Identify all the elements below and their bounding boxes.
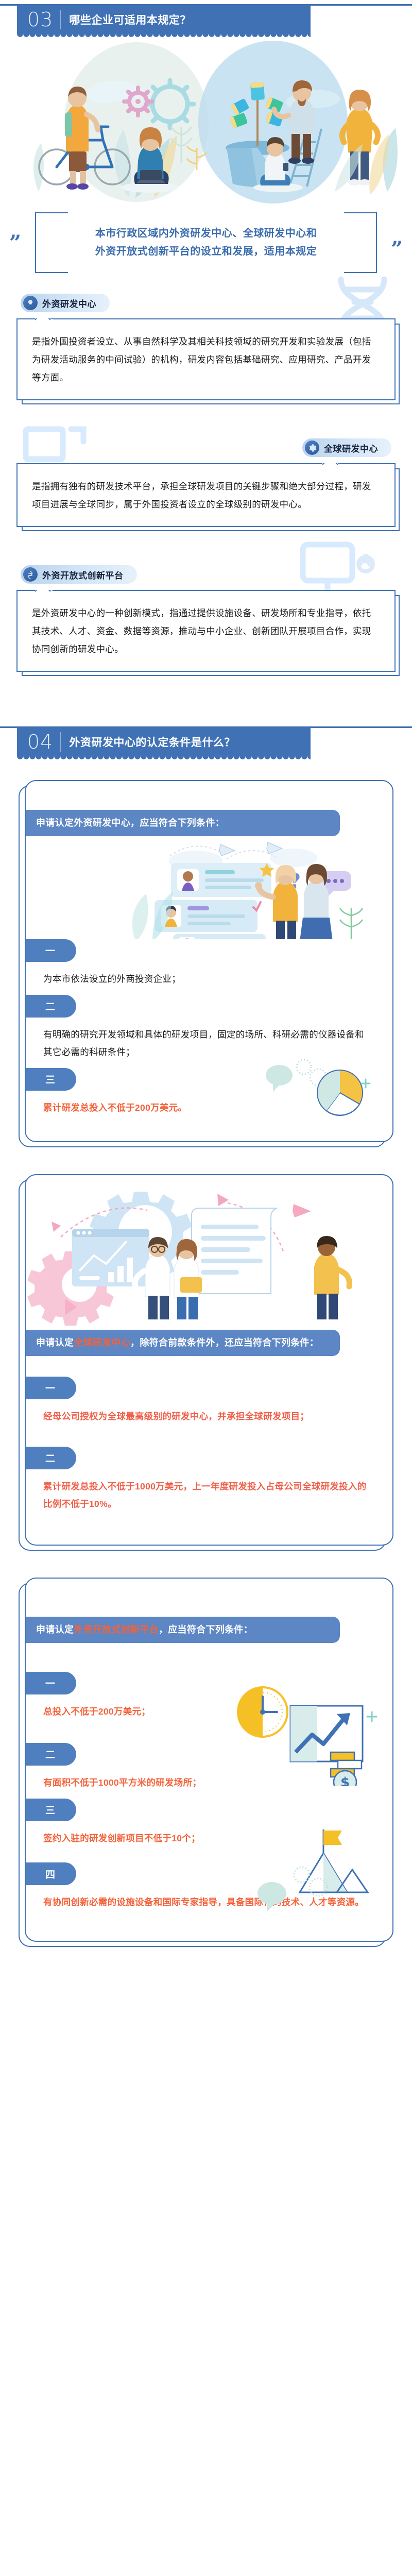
definition-card-wrap: 是指拥有独有的研发技术平台，承担全球研发项目的关键步骤和绝大部分过程，研发项目进… — [16, 457, 396, 527]
definition-card: 是指外国投资者设立、从事自然科学及其相关科技领域的研究开发和实验发展（包括为研发… — [16, 318, 396, 400]
definition-pill-row: 全球研发中心 — [0, 438, 412, 457]
condition-card: 申请认定全球研发中心，除符合前款条件外，还应当符合下列条件： 一 经母公司授权为… — [25, 1174, 393, 1546]
definition-card-notch — [322, 463, 338, 471]
definition-card-notch — [35, 590, 50, 598]
condition-item: 三 累计研发总投入不低于200万美元。 — [26, 1068, 392, 1124]
quote-block: ” ” 本市行政区域内外资研发中心、全球研发中心和 外资开放式创新平台的设立和发… — [0, 212, 412, 273]
section-number: 03 — [27, 10, 61, 29]
definition-card: 是外资研发中心的一种创新模式，指通过提供设施设备、研发场所和专业指导，依托其技术… — [16, 590, 396, 672]
condition-item: 二 有面积不低于1000平方米的研发场所； — [26, 1743, 392, 1799]
definition-card-wrap: 是指外国投资者设立、从事自然科学及其相关科技领域的研究开发和实验发展（包括为研发… — [16, 312, 396, 400]
condition-item-number: 一 — [25, 1672, 76, 1694]
condition-card-foreign-rd-center: 申请认定外资研发中心，应当符合下列条件： — [19, 780, 393, 1142]
condition-item: 二 累计研发总投入不低于1000万美元，上一年度研发投入占母公司全球研发投入的比… — [26, 1447, 392, 1520]
section-title: 哪些企业可适用本规定？ — [69, 12, 191, 27]
condition-item-number: 二 — [25, 995, 76, 1018]
condition-header-suffix: ，除符合前款条件外，还应当符合下列条件： — [130, 1337, 319, 1348]
condition-header-prefix: 申请认定 — [36, 1624, 74, 1635]
condition-item-number: 四 — [25, 1862, 76, 1885]
quote-open-mark: ” — [9, 233, 21, 253]
definition-block-global-rd-center: 全球研发中心 是指拥有独有的研发技术平台，承担全球研发项目的关键步骤和绝大部分过… — [0, 438, 412, 527]
condition-item-text: 累计研发总投入不低于1000万美元，上一年度研发投入占母公司全球研发投入的比例不… — [26, 1469, 392, 1518]
definition-pill-label: 外资开放式创新平台 — [42, 568, 124, 581]
condition-card-illustration — [26, 1175, 392, 1330]
banner-box: 03 哪些企业可适用本规定？ — [17, 5, 311, 34]
condition-header-highlight: 外资开放式创新平台 — [74, 1624, 159, 1635]
network-icon — [23, 567, 38, 582]
condition-item-number: 一 — [25, 939, 76, 962]
definition-body: 是指拥有独有的研发技术平台，承担全球研发项目的关键步骤和绝大部分过程，研发项目进… — [32, 478, 380, 514]
condition-card: 申请认定外资开放式创新平台，应当符合下列条件： 一 — [25, 1578, 393, 1942]
condition-item: 四 有协同创新必需的设施设备和国际专家指导，具备国际化的技术、人才等资源。 — [26, 1862, 392, 1918]
condition-item: 三 签约入驻的研发创新项目不低于10个； — [26, 1799, 392, 1854]
definition-card-notch — [35, 318, 50, 327]
definition-pill: 外资开放式创新平台 — [21, 565, 137, 584]
section-number: 04 — [27, 732, 61, 752]
definition-pill: 全球研发中心 — [302, 438, 391, 457]
condition-card-global-rd-center: 申请认定全球研发中心，除符合前款条件外，还应当符合下列条件： 一 经母公司授权为… — [19, 1174, 393, 1546]
condition-item-number: 二 — [25, 1447, 76, 1469]
banner-scallop-edge — [17, 756, 311, 761]
condition-item-number: 三 — [25, 1068, 76, 1091]
condition-item: 一 — [26, 1672, 392, 1727]
chat-bubble-dots-icon — [248, 1861, 346, 1918]
section-banner-04: 04 外资研发中心的认定条件是什么？ — [0, 722, 412, 759]
condition-item-text: 经母公司授权为全球最高级别的研发中心，并承担全球研发项目； — [26, 1399, 392, 1430]
definition-pill-row: 外资研发中心 — [0, 294, 412, 312]
condition-card-illustration: ? — [26, 831, 392, 939]
definition-pill-label: 外资研发中心 — [42, 297, 96, 310]
condition-header-suffix: ，应当符合下列条件： — [159, 1624, 253, 1635]
definition-card: 是指拥有独有的研发技术平台，承担全球研发项目的关键步骤和绝大部分过程，研发项目进… — [16, 463, 396, 527]
definition-body: 是外资研发中心的一种创新模式，指通过提供设施设备、研发场所和专业指导，依托其技术… — [32, 604, 380, 658]
definition-pill-row: 外资开放式创新平台 — [0, 565, 412, 584]
gear-icon — [305, 440, 319, 455]
definition-pill-label: 全球研发中心 — [324, 442, 378, 454]
definition-pill: 外资研发中心 — [21, 294, 110, 312]
condition-header-highlight: 全球研发中心 — [74, 1337, 130, 1348]
profile-cards-illustration: ? — [26, 831, 376, 939]
condition-item-text: 为本市依法设立的外商投资企业； — [26, 962, 392, 993]
condition-item-number: 三 — [25, 1799, 76, 1821]
quote-line-1: 本市行政区域内外资研发中心、全球研发中心和 — [54, 225, 358, 243]
quote-frame-mask-bottom — [68, 271, 344, 274]
definition-block-open-innovation-platform: 外资开放式创新平台 是外资研发中心的一种创新模式，指通过提供设施设备、研发场所和… — [0, 565, 412, 672]
condition-item-number: 二 — [25, 1743, 76, 1766]
hero-illustration-svg — [0, 37, 412, 207]
condition-item-text: 有面积不低于1000平方米的研发场所； — [26, 1766, 392, 1797]
section-title: 外资研发中心的认定条件是什么？ — [69, 734, 235, 750]
definition-body: 是指外国投资者设立、从事自然科学及其相关科技领域的研究开发和实验发展（包括为研发… — [32, 333, 380, 387]
lightbulb-icon — [23, 296, 38, 310]
quote-frame-mask-top — [68, 212, 344, 214]
condition-card-open-innovation-platform: 申请认定外资开放式创新平台，应当符合下列条件： 一 — [19, 1578, 393, 1942]
condition-card-header: 申请认定全球研发中心，除符合前款条件外，还应当符合下列条件： — [25, 1330, 340, 1356]
hero-illustration — [0, 37, 412, 207]
condition-item-number: 一 — [25, 1377, 76, 1399]
condition-card: 申请认定外资研发中心，应当符合下列条件： — [25, 780, 393, 1142]
condition-header-prefix: 申请认定 — [36, 1337, 74, 1348]
office-team-illustration — [26, 1175, 376, 1330]
condition-item-text: 累计研发总投入不低于200万美元。 — [26, 1091, 392, 1122]
banner-box: 04 外资研发中心的认定条件是什么？ — [17, 727, 311, 756]
condition-item: 一 为本市依法设立的外商投资企业； — [26, 939, 392, 995]
condition-card-header: 申请认定外资研发中心，应当符合下列条件： — [25, 810, 340, 836]
quote-line-2: 外资开放式创新平台的设立和发展，适用本规定 — [54, 243, 358, 261]
condition-card-header: 申请认定外资开放式创新平台，应当符合下列条件： — [25, 1617, 340, 1643]
definition-block-foreign-rd-center: 外资研发中心 是指外国投资者设立、从事自然科学及其相关科技领域的研究开发和实验发… — [0, 294, 412, 400]
quote-close-mark: ” — [391, 239, 403, 260]
definition-card-wrap: 是外资研发中心的一种创新模式，指通过提供设施设备、研发场所和专业指导，依托其技术… — [16, 584, 396, 672]
section-banner-03: 03 哪些企业可适用本规定？ — [0, 0, 412, 37]
quote-frame: 本市行政区域内外资研发中心、全球研发中心和 外资开放式创新平台的设立和发展，适用… — [35, 212, 377, 273]
condition-item: 一 经母公司授权为全球最高级别的研发中心，并承担全球研发项目； — [26, 1377, 392, 1432]
